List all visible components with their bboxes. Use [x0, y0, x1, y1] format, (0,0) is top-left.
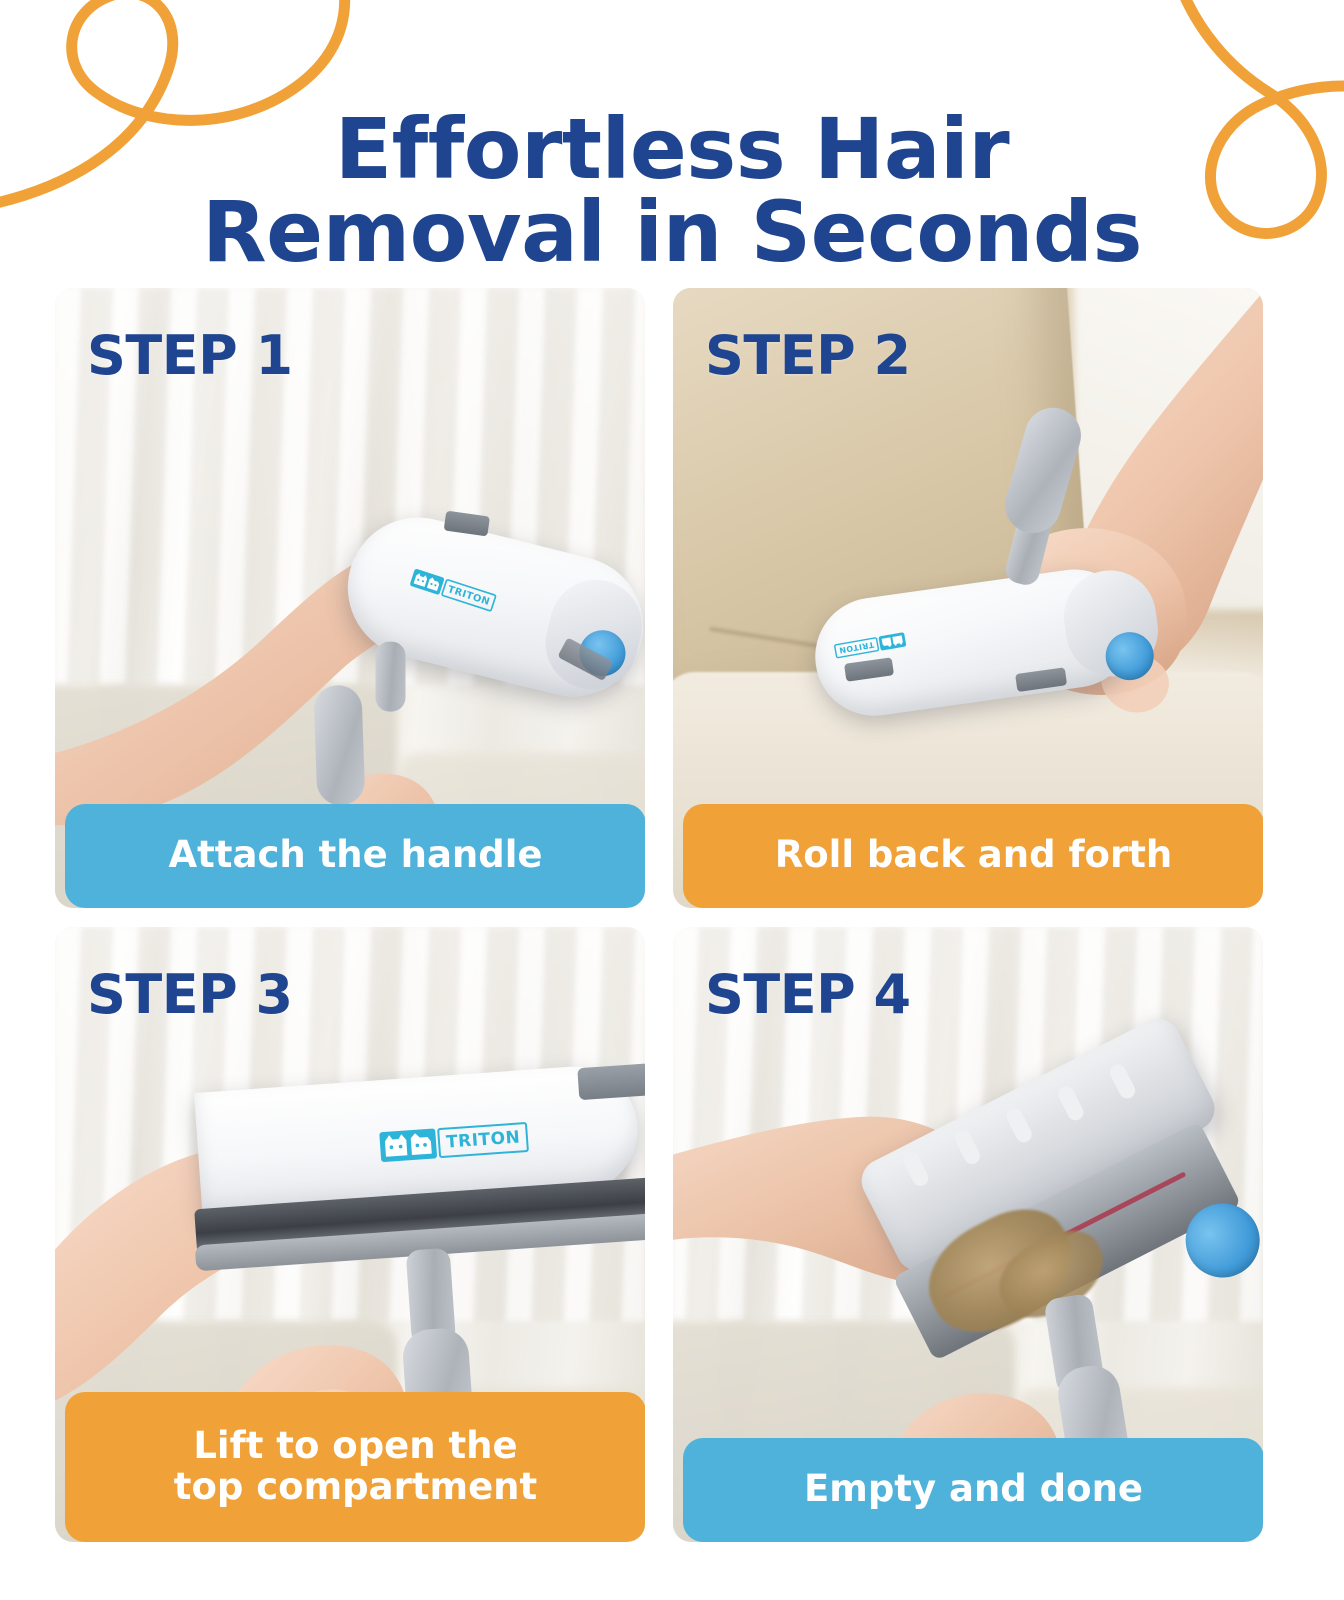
step-4-caption: Empty and done [683, 1438, 1263, 1542]
step-3-label: STEP 3 [87, 963, 293, 1026]
step-3-caption-line-2: top compartment [174, 1465, 537, 1508]
step-2-caption: Roll back and forth [683, 804, 1263, 908]
step-card-1[interactable]: TRITON STEP 1 Attach the handle [55, 288, 645, 908]
step-4-label: STEP 4 [705, 963, 911, 1026]
steps-grid: TRITON STEP 1 Attach the handle [55, 288, 1283, 1542]
step-card-2[interactable]: TRITON STEP 2 Roll back and forth [673, 288, 1263, 908]
cat-dog-faces-icon [379, 1128, 437, 1162]
step-3-caption-line-1: Lift to open the [193, 1424, 517, 1467]
step-card-4[interactable]: STEP 4 Empty and done [673, 927, 1263, 1542]
step-2-label: STEP 2 [705, 324, 911, 387]
step-1-caption: Attach the handle [65, 804, 645, 908]
step-card-3[interactable]: TRITON STEP 3 Lift to open the top compa… [55, 927, 645, 1542]
page-title: Effortless Hair Removal in Seconds [0, 108, 1344, 274]
brand-wordmark: TRITON [437, 1122, 529, 1158]
step-1-label: STEP 1 [87, 324, 293, 387]
step-3-caption: Lift to open the top compartment [65, 1392, 645, 1542]
page-title-line-2: Removal in Seconds [0, 191, 1344, 274]
page-title-line-1: Effortless Hair [0, 108, 1344, 191]
step-3-product: TRITON [194, 1062, 645, 1423]
